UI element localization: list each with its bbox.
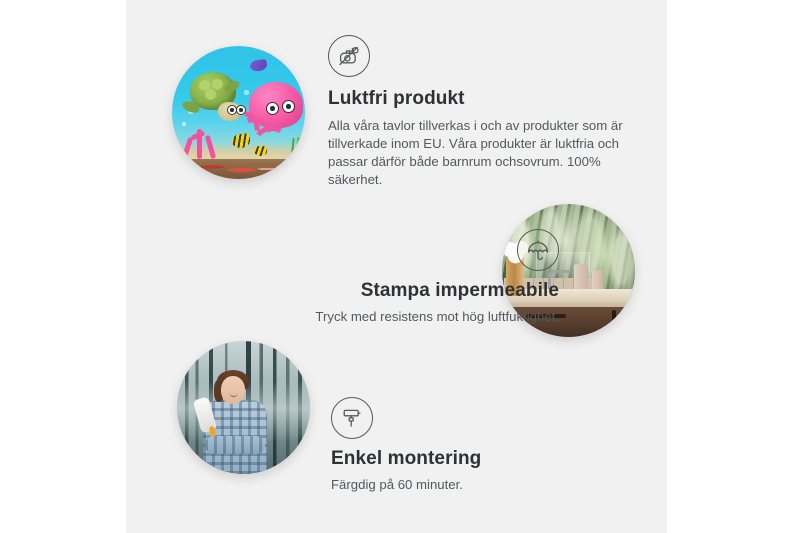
umbrella-icon [517, 229, 559, 271]
feature-block-assembly: Enkel montering Färgdig på 60 minuter. [331, 397, 621, 494]
ocean-scene [172, 46, 305, 179]
ocean-floor [172, 159, 305, 179]
no-scent-perfume-bottle-icon [328, 35, 370, 77]
face [221, 376, 245, 404]
paint-roller-icon [331, 397, 373, 439]
feature-title: Stampa impermeabile [216, 280, 559, 302]
octopus-eye [266, 102, 279, 115]
underwater-cartoon-circle-photo [172, 46, 305, 179]
feature-block-odourless: Luktfri produkt Alla våra tavlor tillver… [328, 35, 638, 189]
woman-paint-roller-forest-circle-photo [177, 341, 310, 474]
octopus-eye [282, 100, 295, 113]
coral-shape [181, 125, 221, 159]
feature-description: Färgdig på 60 minuter. [331, 476, 621, 494]
promo-banner: Luktfri produkt Alla våra tavlor tillver… [0, 0, 800, 533]
feature-description: Alla våra tavlor tillverkas i och av pro… [328, 117, 638, 189]
feature-title: Enkel montering [331, 448, 621, 470]
feature-description: Tryck med resistens mot hög luftfuktighe… [216, 308, 559, 326]
content-panel: Luktfri produkt Alla våra tavlor tillver… [126, 0, 667, 533]
feature-title: Luktfri produkt [328, 88, 638, 110]
woman-figure [199, 370, 277, 474]
feature-block-waterproof: Stampa impermeabile Tryck med resistens … [216, 229, 559, 326]
bubble-icon [244, 90, 249, 95]
forest-scene [177, 341, 310, 474]
crossed-arms [205, 436, 265, 454]
